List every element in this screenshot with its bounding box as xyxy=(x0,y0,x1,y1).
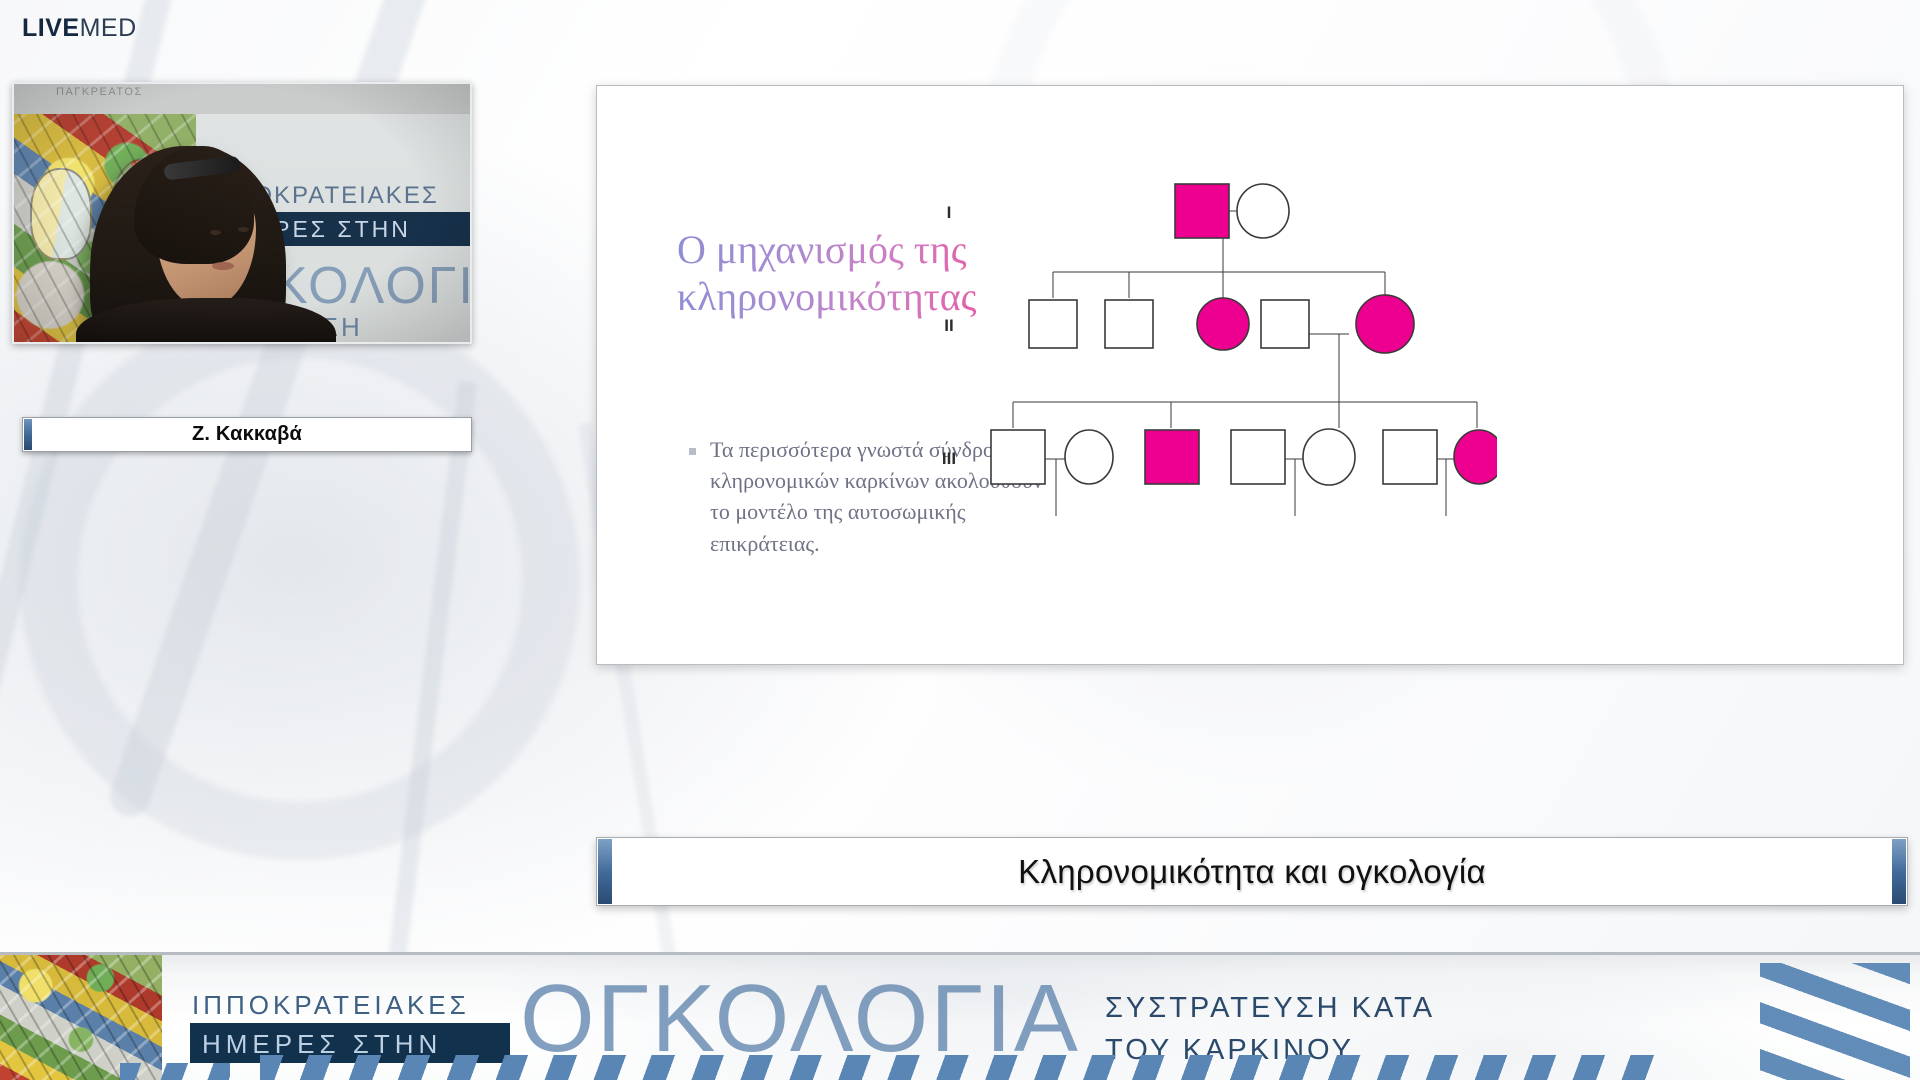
footer-picasso-artwork xyxy=(0,955,162,1080)
speaker-eye xyxy=(210,230,221,235)
presentation-slide[interactable]: Ο μηχανισμός της κληρονομικότητας Τα περ… xyxy=(596,85,1904,665)
bullet-marker-icon xyxy=(689,448,696,455)
pedigree-node-affected-female xyxy=(1454,430,1497,484)
footer-right-line-1: ΣΥΣΤΡΑΤΕΥΣΗ ΚΑΤΑ xyxy=(1105,987,1435,1029)
pedigree-node-unaffected-male xyxy=(1029,300,1077,348)
footer-stripes-right xyxy=(1760,963,1910,1080)
pedigree-node-unaffected-female xyxy=(1303,429,1355,485)
pedigree-node-affected-male xyxy=(1175,184,1229,238)
poster-face-left xyxy=(30,168,92,260)
backdrop-top-label: ΠΑΓΚΡΕΑΤΟΣ xyxy=(56,86,143,98)
name-bar-accent xyxy=(24,419,32,450)
pedigree-node-unaffected-male xyxy=(1261,300,1309,348)
pedigree-node-unaffected-female xyxy=(1065,430,1113,484)
pedigree-node-unaffected-male xyxy=(1383,430,1437,484)
session-title-bar: Κληρονομικότητα και ογκολογία xyxy=(596,837,1908,906)
pedigree-node-unaffected-female xyxy=(1237,184,1289,238)
background-ring xyxy=(20,300,580,860)
conference-footer-banner: ΟΓΚΟΛΟΓΙΑ ΙΠΠΟΚΡΑΤΕΙΑΚΕΣ ΗΜΕΡΕΣ ΣΤΗΝ ΣΥΣ… xyxy=(0,952,1920,1080)
speaker-mouth xyxy=(212,262,234,270)
logo-live-text: LIVE xyxy=(22,14,80,42)
logo-med-text: MED xyxy=(80,14,137,42)
background-swoosh xyxy=(381,381,477,1018)
pedigree-node-unaffected-male xyxy=(1231,430,1285,484)
generation-label-2: II xyxy=(944,316,953,335)
speaker-name-label: Ζ. Κακκαβά xyxy=(192,423,302,446)
footer-stripes xyxy=(260,1055,1660,1080)
title-bar-accent-left xyxy=(598,839,612,904)
pedigree-node-unaffected-male xyxy=(991,430,1045,484)
speaker-video-player[interactable]: ΠΑΓΚΡΕΑΤΟΣ ΟΓΚΟΛΟΓΙ ΙΠΠΟΚΡΑΤΕΙΑΚΕΣ ΗΜΕΡΕ… xyxy=(12,82,472,344)
generation-label-1: I xyxy=(947,203,952,222)
footer-oncology-title: ΟΓΚΟΛΟΓΙΑ xyxy=(520,971,1080,1067)
webcast-stage: LIVEMED ΠΑΓΚΡΕΑΤΟΣ ΟΓΚΟΛΟΓΙ ΙΠΠΟΚΡΑΤΕΙΑΚ… xyxy=(0,0,1920,1080)
pedigree-node-affected-male xyxy=(1145,430,1199,484)
footer-stripes-left xyxy=(120,1063,230,1080)
speaker-eye xyxy=(238,227,249,232)
pedigree-node-affected-female xyxy=(1197,298,1249,350)
generation-label-3: III xyxy=(942,449,956,468)
title-bar-accent-right xyxy=(1892,839,1906,904)
pedigree-node-affected-female xyxy=(1356,295,1414,353)
pedigree-node-unaffected-male xyxy=(1105,300,1153,348)
speaker-video-frame: ΠΑΓΚΡΕΑΤΟΣ ΟΓΚΟΛΟΓΙ ΙΠΠΟΚΡΑΤΕΙΑΚΕΣ ΗΜΕΡΕ… xyxy=(14,84,470,342)
pedigree-diagram: 3 2 5 3 I II III IV xyxy=(937,176,1497,516)
livemed-logo: LIVEMED xyxy=(22,16,137,41)
footer-line-1: ΙΠΠΟΚΡΑΤΕΙΑΚΕΣ xyxy=(192,990,470,1021)
speaker-name-bar: Ζ. Κακκαβά xyxy=(22,417,472,452)
session-title-text: Κληρονομικότητα και ογκολογία xyxy=(1018,853,1486,891)
